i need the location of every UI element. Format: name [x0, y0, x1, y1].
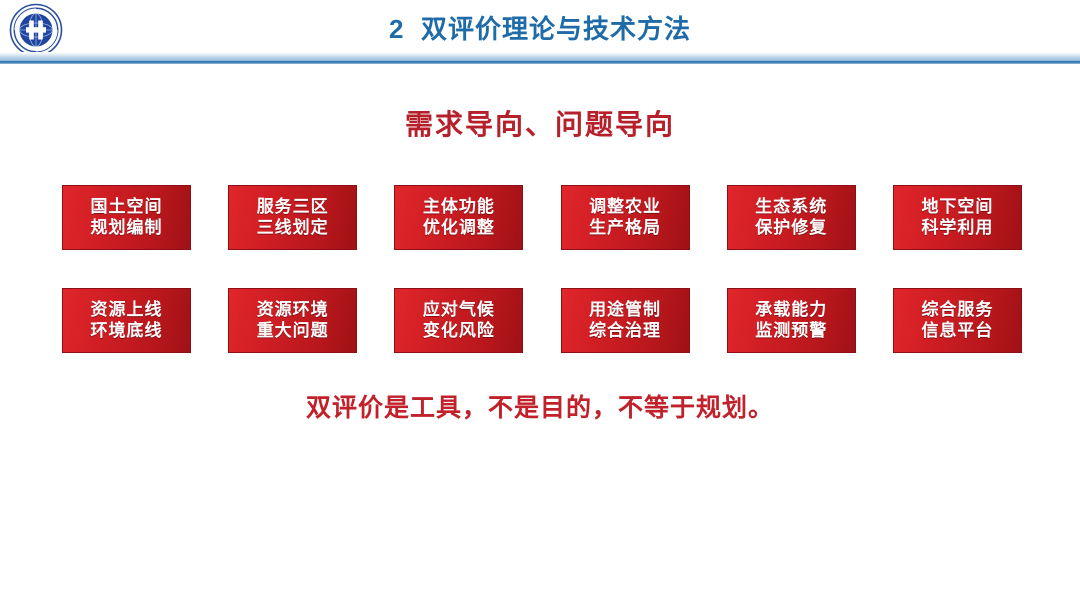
tile-line-1: 综合服务: [921, 300, 993, 320]
tile-dixia-kongjian: 地下空间 科学利用: [893, 185, 1022, 250]
tile-yingdui-qihou: 应对气候 变化风险: [394, 288, 523, 353]
tile-line-2: 规划编制: [91, 218, 163, 238]
tile-line-2: 变化风险: [423, 321, 495, 341]
header-separator-rule: [0, 61, 1080, 64]
tile-ziyuan-huanjing: 资源环境 重大问题: [228, 288, 357, 353]
tile-line-1: 承载能力: [755, 300, 827, 320]
page-title-number: 2: [389, 14, 404, 44]
tile-line-2: 三线划定: [257, 218, 329, 238]
tile-row-1: 国土空间 规划编制 服务三区 三线划定 主体功能 优化调整 调整农业 生产格局 …: [62, 185, 1022, 250]
tile-line-1: 服务三区: [257, 197, 329, 217]
tile-line-1: 资源上线: [91, 300, 163, 320]
closing-statement: 双评价是工具，不是目的，不等于规划。: [0, 388, 1080, 424]
tile-line-2: 生产格局: [589, 218, 661, 238]
tile-line-2: 信息平台: [921, 321, 993, 341]
tile-tiaozheng-nongye: 调整农业 生产格局: [561, 185, 690, 250]
tile-line-1: 地下空间: [921, 197, 993, 217]
tile-guotu-kongjian: 国土空间 规划编制: [62, 185, 191, 250]
slide-canvas: 2 双评价理论与技术方法 需求导向、问题导向 国土空间 规划编制 服务三区 三线…: [0, 0, 1080, 608]
tile-row-2: 资源上线 环境底线 资源环境 重大问题 应对气候 变化风险 用途管制 综合治理 …: [62, 288, 1022, 353]
tile-shengtai-xitong: 生态系统 保护修复: [727, 185, 856, 250]
tile-ziyuan-shangxian: 资源上线 环境底线: [62, 288, 191, 353]
tile-line-1: 生态系统: [755, 197, 827, 217]
tile-fuwu-sanqu: 服务三区 三线划定: [228, 185, 357, 250]
header-separator-band: [0, 52, 1080, 61]
tile-line-2: 综合治理: [589, 321, 661, 341]
tile-line-1: 资源环境: [257, 300, 329, 320]
tile-line-2: 环境底线: [91, 321, 163, 341]
slide-header: 2 双评价理论与技术方法: [0, 0, 1080, 64]
tile-zonghe-fuwu: 综合服务 信息平台: [893, 288, 1022, 353]
tile-line-2: 监测预警: [755, 321, 827, 341]
tile-line-2: 重大问题: [257, 321, 329, 341]
tile-yongtu-guanzhi: 用途管制 综合治理: [561, 288, 690, 353]
application-tile-grid: 国土空间 规划编制 服务三区 三线划定 主体功能 优化调整 调整农业 生产格局 …: [62, 185, 1022, 353]
tile-line-1: 应对气候: [423, 300, 495, 320]
tile-line-2: 保护修复: [755, 218, 827, 238]
tile-line-1: 用途管制: [589, 300, 661, 320]
tile-line-1: 国土空间: [91, 197, 163, 217]
tile-line-2: 优化调整: [423, 218, 495, 238]
tile-zhuti-gongneng: 主体功能 优化调整: [394, 185, 523, 250]
tile-line-1: 调整农业: [589, 197, 661, 217]
tile-chengzai-nengli: 承载能力 监测预警: [727, 288, 856, 353]
tile-line-1: 主体功能: [423, 197, 495, 217]
tile-line-2: 科学利用: [921, 218, 993, 238]
page-title-text: 双评价理论与技术方法: [421, 14, 691, 44]
section-subtitle: 需求导向、问题导向: [0, 103, 1080, 143]
page-title: 2 双评价理论与技术方法: [0, 9, 1080, 46]
